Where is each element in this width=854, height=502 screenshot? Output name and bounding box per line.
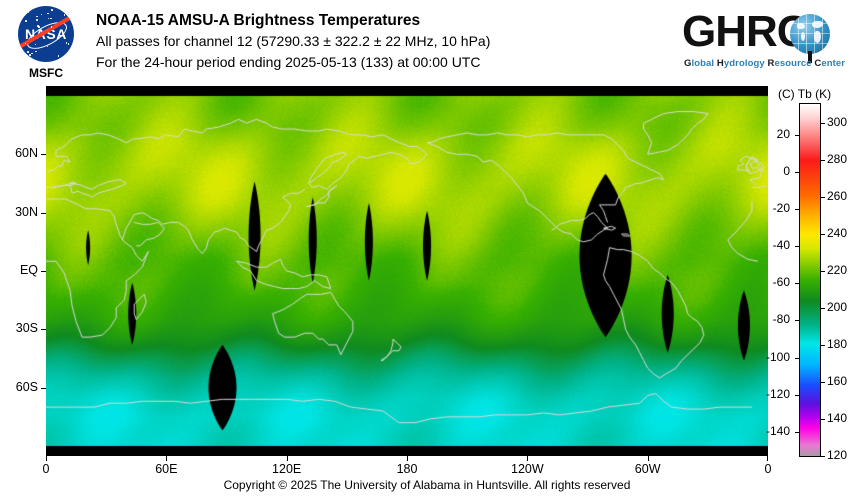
lat-tick	[41, 271, 46, 272]
colorbar-header: (C) Tb (K)	[778, 87, 831, 101]
lon-label: 120W	[497, 462, 557, 476]
lon-tick	[407, 456, 408, 461]
colorbar-tick-celsius	[795, 358, 800, 359]
colorbar-label-celsius: -80	[748, 312, 790, 326]
colorbar-label-kelvin: 120	[827, 448, 847, 462]
lat-tick	[41, 329, 46, 330]
copyright-notice: Copyright © 2025 The University of Alaba…	[0, 478, 854, 492]
colorbar-label-kelvin: 260	[827, 189, 847, 203]
colorbar-tick-celsius	[795, 172, 800, 173]
lon-label: 0	[738, 462, 798, 476]
colorbar-label-kelvin: 200	[827, 300, 847, 314]
lat-tick	[41, 213, 46, 214]
ghrc-tagline: Global Hydrology Resource Center	[684, 58, 844, 69]
colorbar-tick-kelvin	[820, 123, 825, 124]
colorbar-label-kelvin: 300	[827, 115, 847, 129]
channel-subtitle: All passes for channel 12 (57290.33 ± 32…	[96, 31, 666, 52]
colorbar-label-celsius: -120	[748, 387, 790, 401]
lon-label: 60E	[136, 462, 196, 476]
colorbar-label-celsius: 0	[748, 164, 790, 178]
colorbar-label-celsius: -60	[748, 275, 790, 289]
colorbar-tick-kelvin	[820, 382, 825, 383]
nasa-insignia-icon: NASA	[18, 6, 74, 62]
lon-label: 60W	[618, 462, 678, 476]
ghrc-logo: GHRC Global Hydrology Resource Center	[682, 8, 846, 78]
colorbar-tick-kelvin	[820, 419, 825, 420]
lon-label: 0	[16, 462, 76, 476]
colorbar-tick-kelvin	[820, 308, 825, 309]
colorbar-tick-celsius	[795, 246, 800, 247]
lon-tick	[287, 456, 288, 461]
lon-label: 120E	[257, 462, 317, 476]
lon-tick	[648, 456, 649, 461]
lon-tick	[166, 456, 167, 461]
colorbar-tick-kelvin	[820, 234, 825, 235]
colorbar-label-celsius: -100	[748, 350, 790, 364]
lat-tick	[41, 154, 46, 155]
period-subtitle: For the 24-hour period ending 2025-05-13…	[96, 52, 666, 73]
colorbar-label-celsius: -140	[748, 424, 790, 438]
lon-tick	[46, 456, 47, 461]
colorbar-label-kelvin: 180	[827, 337, 847, 351]
colorbar-tick-kelvin	[820, 197, 825, 198]
colorbar-tick-celsius	[795, 432, 800, 433]
colorbar-label-kelvin: 140	[827, 411, 847, 425]
colorbar-tick-celsius	[795, 135, 800, 136]
colorbar-tick-celsius	[795, 283, 800, 284]
lon-label: 180	[377, 462, 437, 476]
colorbar-tick-celsius	[795, 395, 800, 396]
colorbar-tick-celsius	[795, 209, 800, 210]
lat-tick	[41, 388, 46, 389]
colorbar-label-kelvin: 280	[827, 152, 847, 166]
globe-icon	[790, 14, 830, 54]
colorbar-label-celsius: -20	[748, 201, 790, 215]
colorbar-label-kelvin: 220	[827, 263, 847, 277]
colorbar-label-celsius: 20	[748, 127, 790, 141]
colorbar-tick-kelvin	[820, 271, 825, 272]
colorbar-label-kelvin: 160	[827, 374, 847, 388]
lon-tick	[527, 456, 528, 461]
colorbar-gradient	[800, 104, 820, 456]
brightness-temperature-map-page: NASA MSFC NOAA-15 AMSU-A Brightness Temp…	[0, 0, 854, 502]
lat-label: 30N	[0, 205, 38, 219]
ghrc-wordmark: GHRC	[682, 8, 808, 56]
page-title: NOAA-15 AMSU-A Brightness Temperatures	[96, 10, 666, 31]
lat-label: 60S	[0, 380, 38, 394]
nasa-center-label: MSFC	[12, 66, 80, 80]
colorbar-tick-kelvin	[820, 456, 825, 457]
colorbar-tick-celsius	[795, 320, 800, 321]
map-plot-area	[46, 86, 768, 456]
colorbar-label-celsius: -40	[748, 238, 790, 252]
nasa-logo: NASA MSFC	[12, 6, 80, 84]
colorbar-tick-kelvin	[820, 345, 825, 346]
colorbar-label-kelvin: 240	[827, 226, 847, 240]
lon-tick	[767, 456, 768, 461]
colorbar-tick-kelvin	[820, 160, 825, 161]
title-block: NOAA-15 AMSU-A Brightness Temperatures A…	[96, 10, 666, 73]
lat-label: 30S	[0, 321, 38, 335]
lat-label: EQ	[0, 263, 38, 277]
lat-label: 60N	[0, 146, 38, 160]
brightness-temperature-raster	[46, 86, 768, 456]
